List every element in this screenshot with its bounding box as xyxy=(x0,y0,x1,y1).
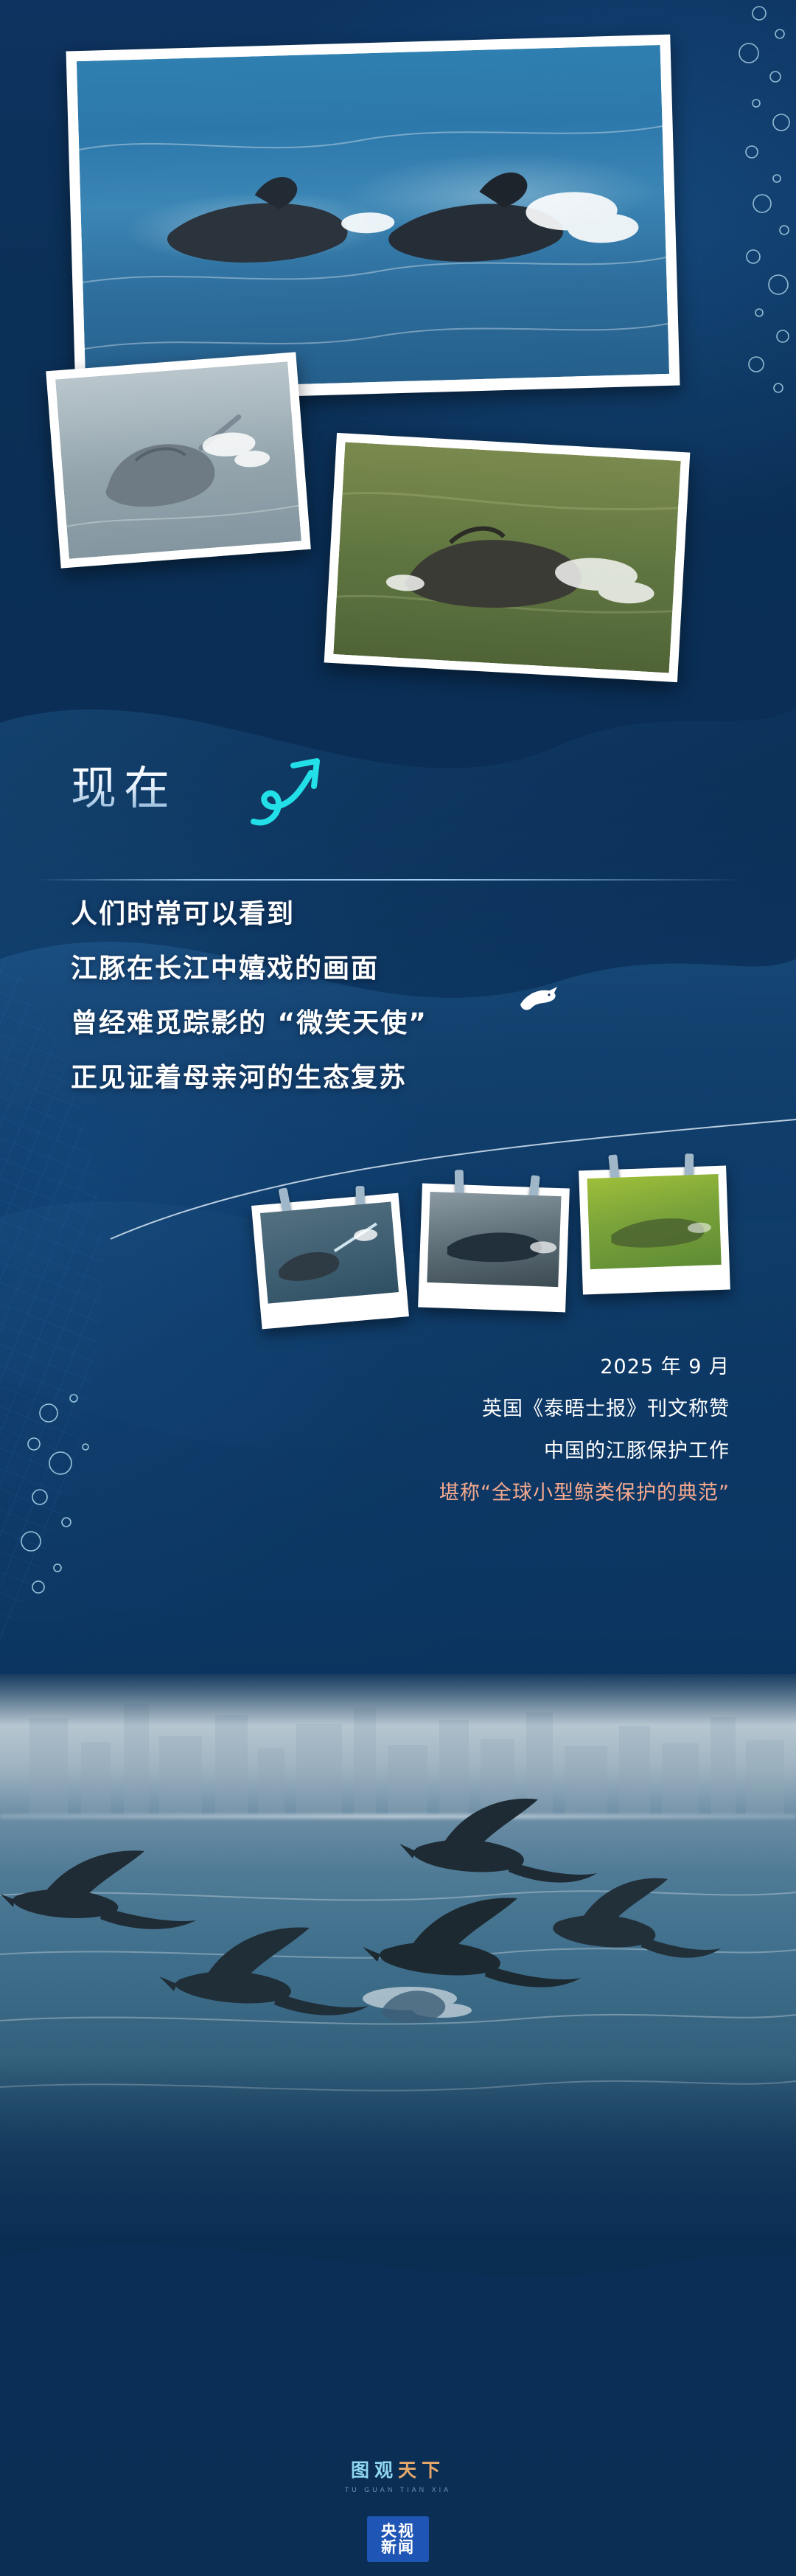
quote-line-4: 堪称“全球小型鲸类保护的典范” xyxy=(199,1483,730,1503)
bird-decoration-icon xyxy=(516,979,560,1019)
watermark-cn-part1: 图观 xyxy=(351,2459,398,2481)
section-heading-now: 现在 xyxy=(71,765,380,854)
cctv-logo-line-2: 新闻 xyxy=(381,2539,415,2555)
paragraph-line-2: 江豚在长江中嬉戏的画面 xyxy=(71,956,660,982)
porpoise-pair-photo xyxy=(66,35,680,403)
cctv-news-logo[interactable]: 央视 新闻 xyxy=(367,2516,429,2562)
cormorants-over-river-photo xyxy=(0,1674,796,2235)
quote-line-1: 2025 年 9 月 xyxy=(199,1357,730,1377)
paragraph-line-3: 曾经难觅踪影的 “微笑天使” xyxy=(71,1010,660,1037)
mini-photo-3 xyxy=(579,1166,730,1295)
mini-photo-2 xyxy=(418,1184,570,1313)
hanging-photo-strip xyxy=(0,1055,796,1394)
watermark-cn-text: 图观天下 xyxy=(0,2456,796,2482)
porpoise-smile-photo xyxy=(46,352,311,568)
watermark-pinyin-text: TU GUAN TIAN XIA xyxy=(0,2486,796,2493)
top-photo-collage xyxy=(0,0,796,745)
paragraph-line-1: 人们时常可以看到 xyxy=(71,901,660,928)
bubbles-decoration-left xyxy=(15,1386,147,1608)
watermark-cn-part2: 天下 xyxy=(398,2459,445,2481)
quote-line-2: 英国《泰晤士报》刊文称赞 xyxy=(199,1399,730,1419)
watermark-tuguantianxia: 图观天下 TU GUAN TIAN XIA xyxy=(0,2456,796,2493)
quote-block: 2025 年 9 月 英国《泰晤士报》刊文称赞 中国的江豚保护工作 堪称“全球小… xyxy=(199,1357,730,1525)
curved-up-arrow-icon xyxy=(246,752,335,832)
photo-bottom-fade xyxy=(0,2058,796,2235)
mini-photo-1 xyxy=(251,1193,409,1330)
cctv-logo-line-1: 央视 xyxy=(381,2523,415,2539)
photo-top-fade xyxy=(0,1674,796,1726)
clothespin-icon-3 xyxy=(455,1170,464,1195)
quote-line-3: 中国的江豚保护工作 xyxy=(199,1441,730,1461)
section-divider-rule xyxy=(37,879,744,881)
porpoise-swimming-photo xyxy=(324,433,691,682)
